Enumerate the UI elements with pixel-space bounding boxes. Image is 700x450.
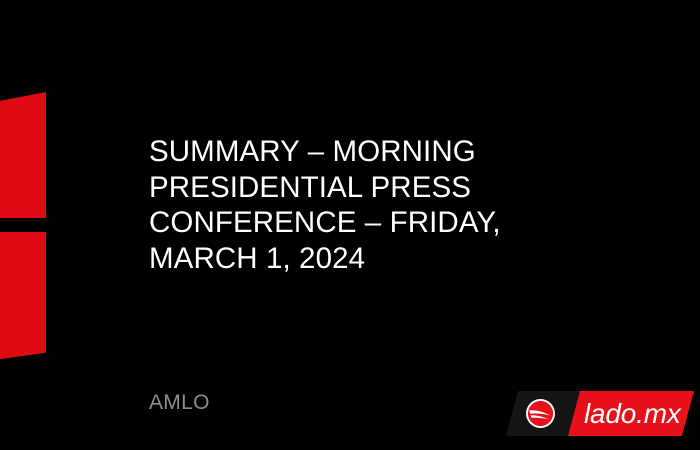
category-label: AMLO — [149, 390, 210, 416]
red-parallelogram-icon-bottom — [0, 232, 46, 366]
brand-logo[interactable]: lado.mx — [512, 391, 688, 436]
logo-slab: lado.mx — [506, 391, 694, 436]
left-decorative-graphic — [0, 0, 120, 450]
page-title: SUMMARY – MORNING PRESIDENTIAL PRESS CON… — [149, 134, 579, 276]
swoosh-circle-icon — [525, 398, 556, 429]
red-parallelogram-icon-top — [0, 92, 46, 218]
logo-wordmark: lado.mx — [584, 391, 681, 436]
article-thumbnail-card: SUMMARY – MORNING PRESIDENTIAL PRESS CON… — [0, 0, 700, 450]
